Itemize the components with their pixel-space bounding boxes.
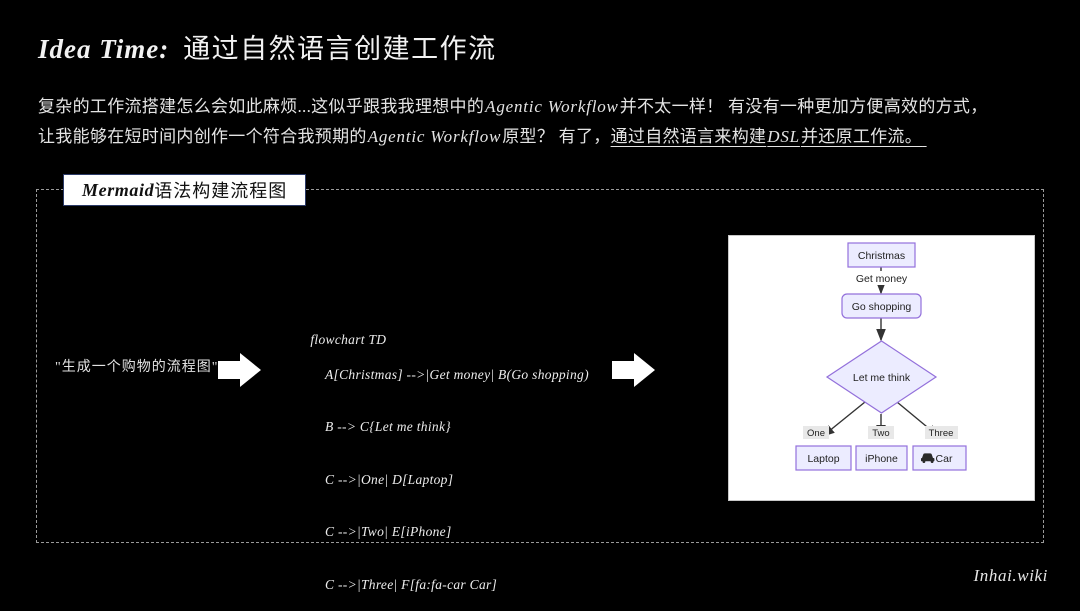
prompt-quote: "生成一个购物的流程图" — [55, 356, 218, 376]
page-title: Idea Time: 通过自然语言创建工作流 — [38, 32, 497, 66]
flowchart-node-let-me-think-label: Let me think — [853, 372, 911, 384]
flowchart-node-let-me-think[interactable]: Let me think — [827, 341, 936, 413]
flowchart-node-laptop[interactable]: Laptop — [796, 446, 851, 470]
mermaid-code-line-6: C -->|Three| F[fa:fa-car Car] — [303, 576, 589, 594]
mermaid-code-line-3: B --> C{Let me think} — [303, 418, 589, 436]
body-line2-emphasis: 通过自然语言来构建DSL并还原工作流。 — [611, 127, 927, 146]
flowchart-edge-label-one: One — [803, 426, 829, 439]
flowchart-edge-label-two-text: Two — [872, 428, 889, 439]
page-title-latin: Idea Time — [38, 34, 159, 64]
body-emphasis-latin: DSL — [766, 127, 801, 146]
section-label-latin: Mermaid — [82, 180, 154, 201]
mermaid-code-line-4: C -->|One| D[Laptop] — [303, 471, 589, 489]
body-line2-latin: Agentic Workflow — [367, 127, 503, 146]
edge-c-to-d — [823, 402, 865, 436]
body-line1-part2: 并不太一样！ 有没有一种更加方便高效的方式， — [620, 97, 988, 116]
body-emphasis-part1: 通过自然语言来构建 — [611, 127, 767, 146]
flowchart-node-go-shopping-label: Go shopping — [852, 301, 912, 313]
flowchart-edge-label-get-money-text: Get money — [856, 273, 908, 285]
flowchart-node-car[interactable]: Car — [913, 446, 966, 470]
flowchart-node-iphone-label: iPhone — [865, 453, 898, 465]
body-line2-part1: 让我能够在短时间内创作一个符合我预期的 — [38, 127, 367, 146]
section-label-han: 语法构建流程图 — [154, 177, 287, 203]
flowchart-edge-label-one-text: One — [807, 428, 825, 439]
arrow-right-icon — [612, 350, 656, 390]
body-line2-part2: 原型？ 有了， — [502, 127, 610, 146]
flowchart-edge-label-two: Two — [868, 426, 894, 439]
flowchart-node-christmas-label: Christmas — [858, 250, 905, 262]
mermaid-code-block: flowchart TD A[Christmas] -->|Get money|… — [303, 313, 589, 611]
section-label-chip: Mermaid语法构建流程图 — [63, 174, 306, 206]
mermaid-code-line-5: C -->|Two| E[iPhone] — [303, 523, 589, 541]
flowchart-edge-label-get-money: Get money — [849, 271, 914, 285]
flowchart-node-go-shopping[interactable]: Go shopping — [842, 294, 921, 318]
body-line1-part1: 复杂的工作流搭建怎么会如此麻烦...这似乎跟我我理想中的 — [38, 97, 484, 116]
flow-arrow-right-icon-1 — [218, 350, 262, 390]
body-paragraph: 复杂的工作流搭建怎么会如此麻烦...这似乎跟我我理想中的Agentic Work… — [38, 92, 1048, 152]
arrow-right-icon — [218, 350, 262, 390]
rendered-flowchart-panel: Christmas Get money Go shopping Let me t… — [729, 236, 1034, 500]
body-line1-latin: Agentic Workflow — [484, 97, 620, 116]
flow-arrow-right-icon-2 — [612, 350, 656, 390]
flowchart-node-car-label: Car — [936, 453, 953, 465]
mermaid-code-line-2: A[Christmas] -->|Get money| B(Go shoppin… — [303, 366, 589, 384]
watermark: Inhai.wiki — [974, 566, 1048, 586]
flowchart-node-christmas[interactable]: Christmas — [848, 243, 915, 267]
mermaid-code-line-1: flowchart TD — [310, 332, 386, 347]
flowchart-node-iphone[interactable]: iPhone — [856, 446, 907, 470]
page-title-han: 通过自然语言创建工作流 — [183, 34, 497, 64]
flowchart-node-laptop-label: Laptop — [807, 453, 839, 465]
page-title-separator: : — [159, 34, 169, 64]
flowchart-edge-label-three: Three — [925, 426, 958, 439]
flowchart-svg: Christmas Get money Go shopping Let me t… — [729, 236, 1034, 500]
body-emphasis-part2: 并还原工作流。 — [801, 127, 922, 146]
flowchart-edge-label-three-text: Three — [929, 428, 954, 439]
